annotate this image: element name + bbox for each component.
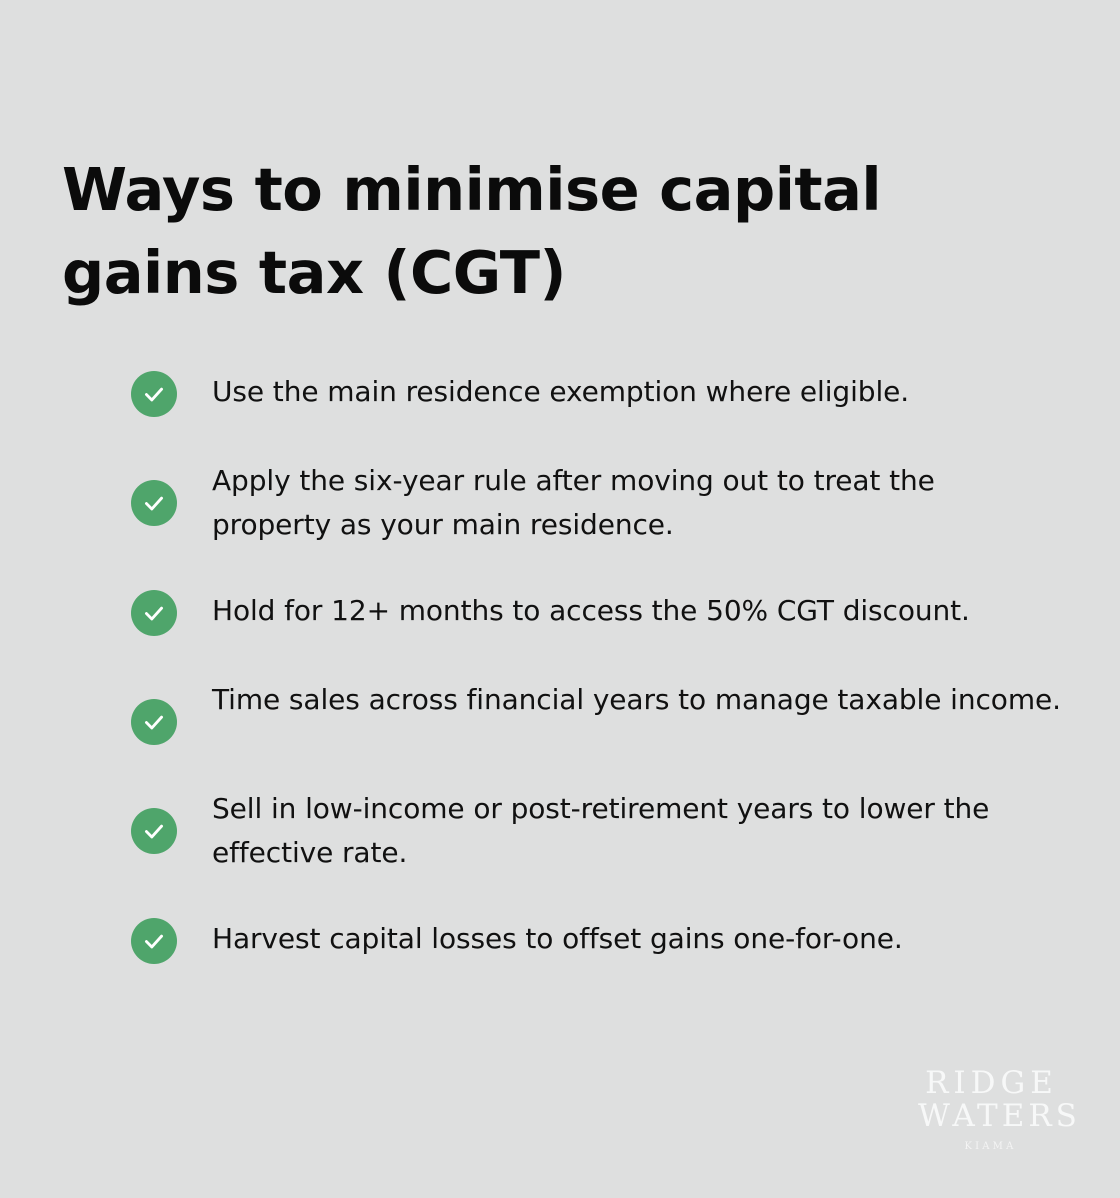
list-item: Apply the six-year rule after moving out… — [131, 460, 1061, 547]
list-item-label: Time sales across financial years to man… — [212, 678, 1061, 722]
check-circle-icon — [131, 371, 177, 417]
list-item-label: Use the main residence exemption where e… — [212, 370, 1061, 414]
list-item: Hold for 12+ months to access the 50% CG… — [131, 590, 1061, 636]
list-item: Time sales across financial years to man… — [131, 679, 1061, 745]
check-circle-icon — [131, 480, 177, 526]
check-circle-icon — [131, 918, 177, 964]
brand-watermark: RIDGE WATERS KIAMA — [914, 1065, 1064, 1154]
check-circle-icon — [131, 699, 177, 745]
brand-name-line-2: WATERS — [914, 1098, 1064, 1134]
brand-name-line-1: RIDGE — [914, 1065, 1064, 1101]
checklist: Use the main residence exemption where e… — [131, 371, 1061, 964]
list-item-label: Sell in low-income or post-retirement ye… — [212, 787, 1061, 875]
list-item-label: Hold for 12+ months to access the 50% CG… — [212, 589, 1061, 633]
list-item: Use the main residence exemption where e… — [131, 371, 1061, 417]
brand-location: KIAMA — [914, 1140, 1064, 1154]
list-item: Sell in low-income or post-retirement ye… — [131, 788, 1061, 875]
list-item: Harvest capital losses to offset gains o… — [131, 918, 1061, 964]
infographic-card: Ways to minimise capital gains tax (CGT)… — [0, 0, 1120, 1198]
check-circle-icon — [131, 590, 177, 636]
check-circle-icon — [131, 808, 177, 854]
page-title: Ways to minimise capital gains tax (CGT) — [62, 148, 1062, 314]
list-item-label: Apply the six-year rule after moving out… — [212, 459, 1061, 547]
list-item-label: Harvest capital losses to offset gains o… — [212, 917, 1061, 961]
